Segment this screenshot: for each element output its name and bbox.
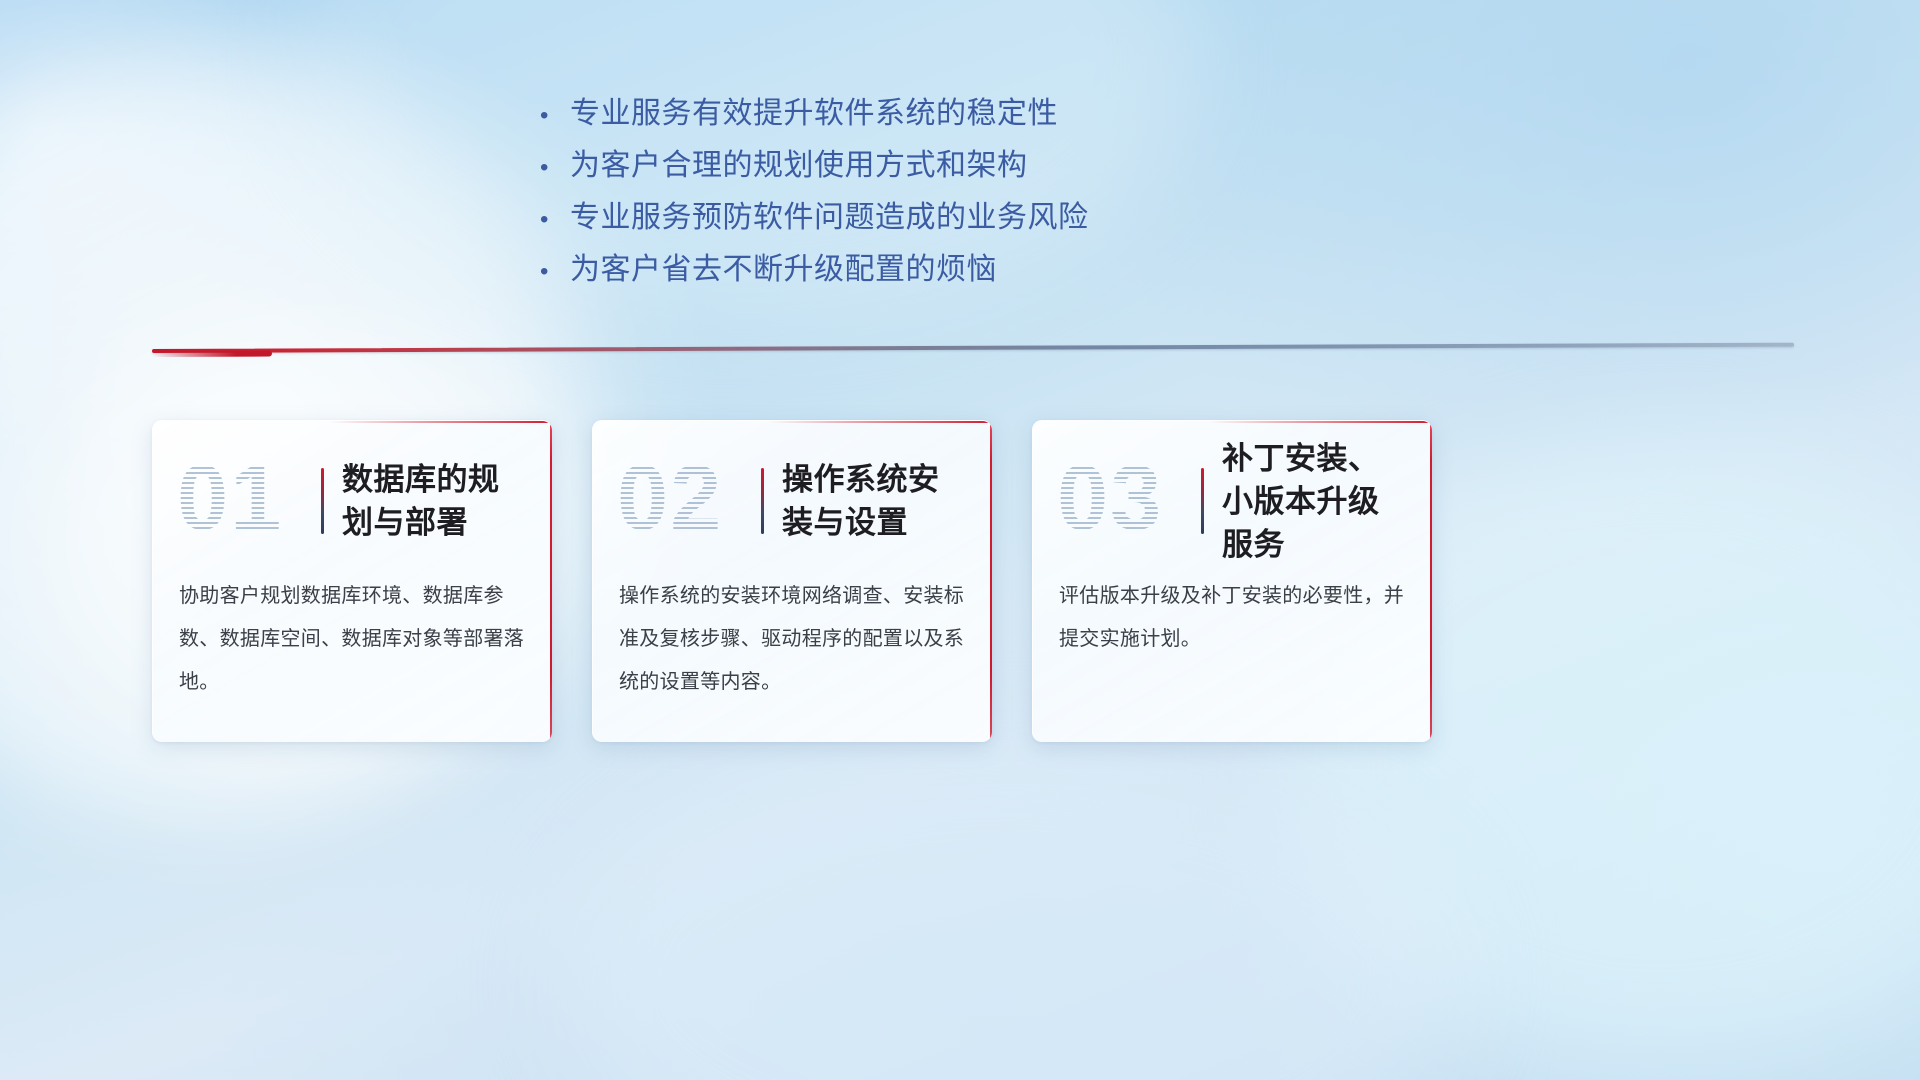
card-header: 02 操作系统安装与设置 [593, 421, 992, 571]
bullet-item-label: 为客户合理的规划使用方式和架构 [570, 140, 1028, 192]
card-number: 02 [617, 452, 757, 544]
bullet-item: • 为客户省去不断升级配置的烦恼 [540, 244, 1440, 296]
bullet-marker-icon: • [540, 156, 570, 180]
card-number: 01 [177, 452, 317, 544]
card-description: 操作系统的安装环境网络调查、安装标准及复核步骤、驱动程序的配置以及系统的设置等内… [593, 571, 992, 704]
benefits-bullet-list: • 专业服务有效提升软件系统的稳定性 • 为客户合理的规划使用方式和架构 • 专… [540, 88, 1440, 296]
bullet-item: • 专业服务预防软件问题造成的业务风险 [540, 192, 1440, 244]
card-title: 数据库的规划与部署 [342, 458, 534, 544]
card-title: 操作系统安装与设置 [782, 458, 974, 544]
service-card-group: 01 数据库的规划与部署 协助客户规划数据库环境、数据库参数、数据库空间、数据库… [152, 420, 1794, 750]
card-title-rule [321, 468, 324, 534]
card-header: 03 补丁安装、小版本升级服务 [1033, 421, 1432, 571]
service-card[interactable]: 03 补丁安装、小版本升级服务 评估版本升级及补丁安装的必要性，并提交实施计划。 [1032, 420, 1432, 742]
bullet-marker-icon: • [540, 208, 570, 232]
divider-red-tip [152, 351, 272, 357]
bullet-item-label: 专业服务预防软件问题造成的业务风险 [570, 192, 1089, 244]
card-description: 评估版本升级及补丁安装的必要性，并提交实施计划。 [1033, 571, 1432, 661]
bullet-item: • 专业服务有效提升软件系统的稳定性 [540, 88, 1440, 140]
service-card[interactable]: 01 数据库的规划与部署 协助客户规划数据库环境、数据库参数、数据库空间、数据库… [152, 420, 552, 742]
card-header: 01 数据库的规划与部署 [153, 421, 552, 571]
slide-canvas: • 专业服务有效提升软件系统的稳定性 • 为客户合理的规划使用方式和架构 • 专… [0, 0, 1920, 1080]
card-title: 补丁安装、小版本升级服务 [1222, 437, 1414, 566]
background-glow-bottom [560, 740, 1460, 1080]
card-description: 协助客户规划数据库环境、数据库参数、数据库空间、数据库对象等部署落地。 [153, 571, 552, 704]
card-title-rule [761, 468, 764, 534]
bullet-marker-icon: • [540, 104, 570, 128]
bullet-item-label: 为客户省去不断升级配置的烦恼 [570, 244, 997, 296]
service-card[interactable]: 02 操作系统安装与设置 操作系统的安装环境网络调查、安装标准及复核步骤、驱动程… [592, 420, 992, 742]
card-number: 03 [1057, 452, 1197, 544]
section-divider [152, 345, 1794, 365]
bullet-marker-icon: • [540, 260, 570, 284]
bullet-item-label: 专业服务有效提升软件系统的稳定性 [570, 88, 1058, 140]
divider-line [152, 343, 1794, 353]
card-title-rule [1201, 468, 1204, 534]
bullet-item: • 为客户合理的规划使用方式和架构 [540, 140, 1440, 192]
